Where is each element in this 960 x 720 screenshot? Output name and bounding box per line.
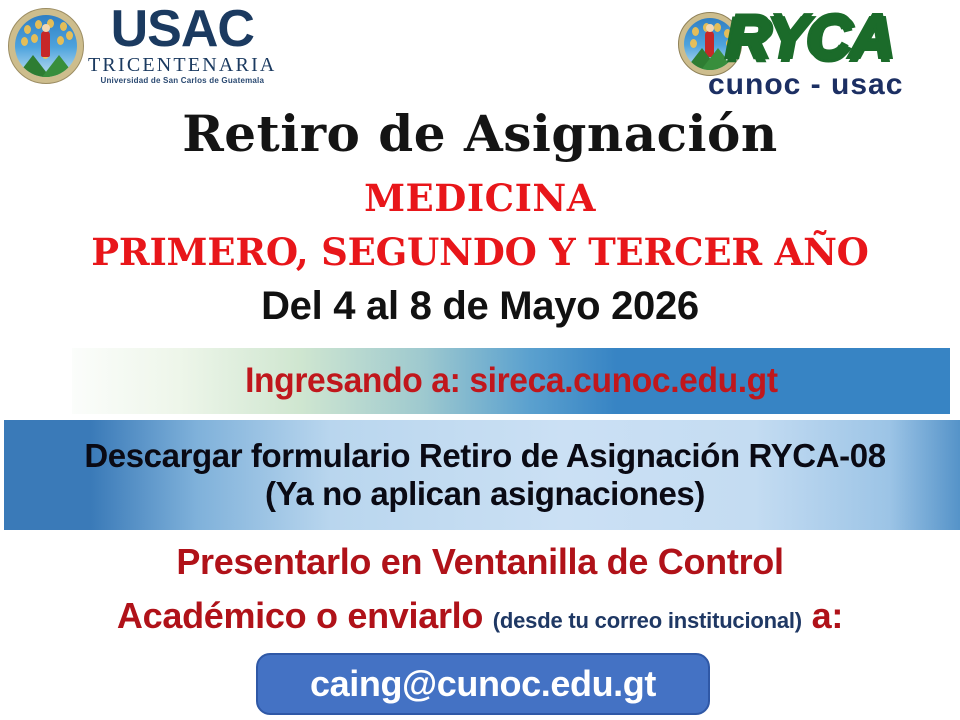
form-banner-line-2: (Ya no aplican asignaciones): [265, 475, 705, 513]
url-banner[interactable]: Ingresando a: sireca.cunoc.edu.gt: [72, 348, 950, 414]
date-range: Del 4 al 8 de Mayo 2026: [0, 284, 960, 329]
usac-tagline: TRICENTENARIA: [88, 55, 277, 75]
ryca-wordmark: RYCA: [726, 6, 893, 71]
instruction-line-1: Presentarlo en Ventanilla de Control: [0, 541, 960, 583]
poster-canvas: USAC TRICENTENARIA Universidad de San Ca…: [0, 0, 960, 720]
ryca-logo: RYCA cunoc - usac: [678, 6, 946, 102]
instruction-line-2-note: (desde tu correo institucional): [493, 608, 802, 633]
usac-subtitle: Universidad de San Carlos de Guatemala: [100, 77, 264, 85]
years-title: PRIMERO, SEGUNDO Y TERCER AÑO: [0, 230, 960, 274]
ryca-subtitle: cunoc - usac: [708, 68, 903, 102]
form-banner-line-1: Descargar formulario Retiro de Asignació…: [84, 437, 885, 475]
faculty-title: MEDICINA: [0, 176, 960, 220]
instruction-line-2-prefix: Académico o enviarlo: [117, 595, 483, 636]
email-address: caing@cunoc.edu.gt: [310, 663, 656, 705]
form-download-banner[interactable]: Descargar formulario Retiro de Asignació…: [4, 420, 960, 530]
url-banner-label: Ingresando a: sireca.cunoc.edu.gt: [245, 361, 778, 401]
usac-wordmark: USAC TRICENTENARIA Universidad de San Ca…: [88, 4, 277, 85]
email-button[interactable]: caing@cunoc.edu.gt: [256, 653, 710, 715]
usac-logo: USAC TRICENTENARIA Universidad de San Ca…: [8, 4, 277, 85]
page-title: Retiro de Asignación: [0, 104, 960, 163]
usac-seal-icon: [8, 8, 84, 84]
usac-wordmark-text: USAC: [111, 6, 254, 54]
instruction-line-2: Académico o enviarlo (desde tu correo in…: [0, 595, 960, 637]
instruction-line-2-suffix: a:: [812, 595, 843, 636]
